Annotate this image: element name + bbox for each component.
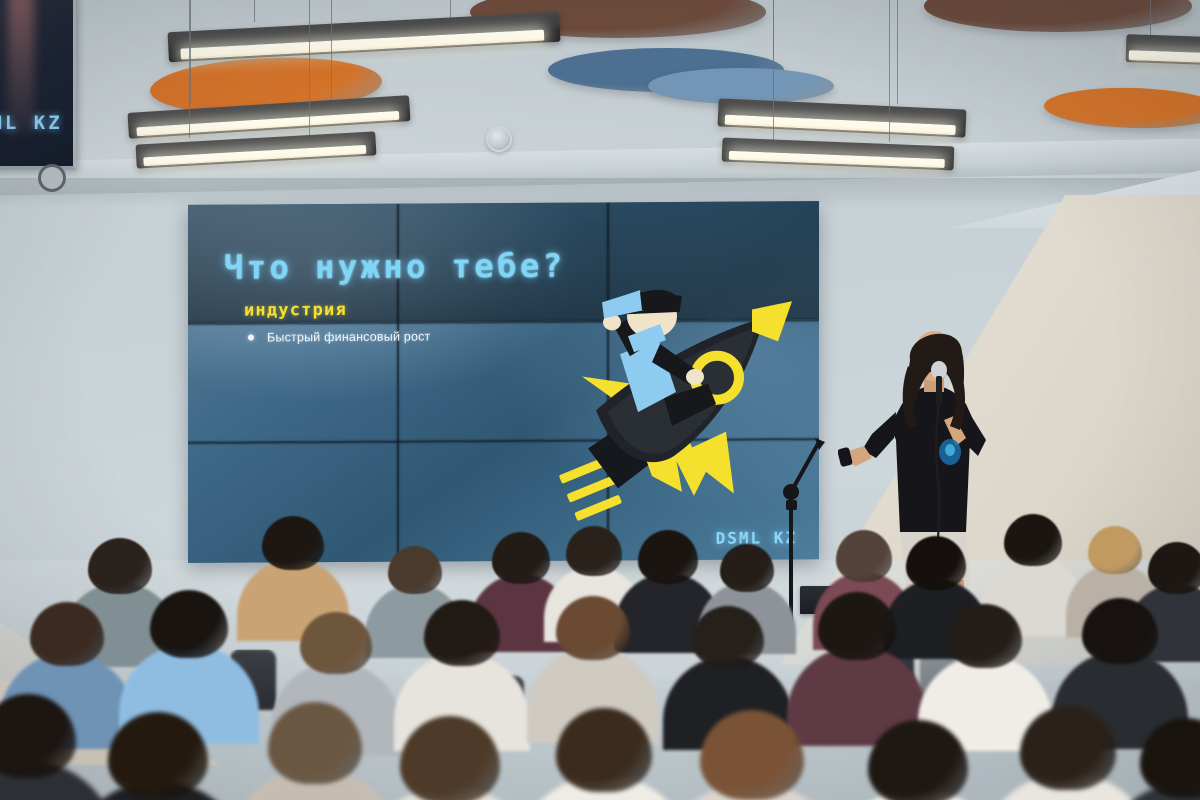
audience-member-head <box>150 590 228 658</box>
audience-member-head <box>1088 526 1142 574</box>
audience-member-head <box>388 546 442 594</box>
hanging-wire <box>309 0 310 138</box>
side-monitor-logo: SML KZ <box>0 112 63 134</box>
audience <box>0 480 1200 800</box>
audience-member-head <box>692 606 764 668</box>
hanging-wire <box>331 0 332 104</box>
hanging-wire <box>189 0 190 138</box>
conference-room-photo: SML KZ <box>0 0 1200 800</box>
audience-member-head <box>720 544 774 592</box>
audience-member-head <box>638 530 698 584</box>
hanging-wire <box>190 0 191 104</box>
audience-member-head <box>566 526 622 576</box>
side-monitor-mount <box>38 164 66 192</box>
audience-member-head <box>88 538 152 594</box>
hanging-wire <box>897 0 898 104</box>
hanging-wire <box>889 0 890 142</box>
hanging-wire <box>254 0 255 22</box>
audience-member-head <box>1148 542 1200 594</box>
slide-subtitle: индустрия <box>244 300 347 321</box>
side-monitor: SML KZ <box>0 0 76 170</box>
light-bar-6 <box>1126 34 1200 66</box>
slide-bullet-text: Быстрый финансовый рост <box>267 329 430 344</box>
audience-member-head <box>1004 514 1062 566</box>
audience-member-head <box>262 516 324 570</box>
audience-member-head <box>492 532 550 584</box>
slide-bullet-item: Быстрый финансовый рост <box>248 329 430 344</box>
hanging-wire <box>1150 0 1151 36</box>
bullet-dot-icon <box>248 335 254 341</box>
hanging-wire <box>773 0 774 142</box>
audience-member-head <box>300 612 372 674</box>
audience-member-head <box>836 530 892 582</box>
ceiling-speaker <box>486 126 512 152</box>
slide-title: Что нужно тебе? <box>224 247 565 287</box>
audience-member-head <box>906 536 966 590</box>
